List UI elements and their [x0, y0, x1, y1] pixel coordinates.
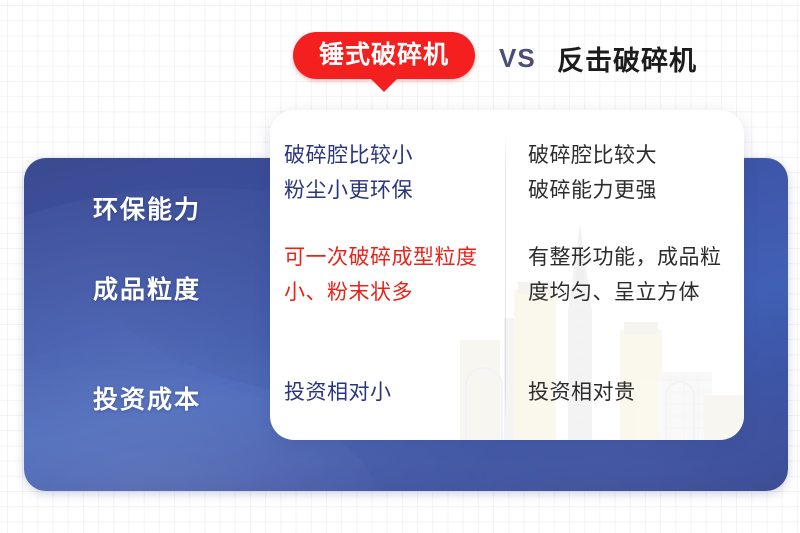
comparison-card: 破碎腔比较小 粉尘小更环保 可一次破碎成型粒度小、粉末状多 投资相对小 破碎腔比… [270, 110, 744, 440]
sidebar-category-list: 环保能力 成品粒度 投资成本 [24, 158, 270, 491]
left-machine-badge: 锤式破碎机 [293, 32, 475, 79]
cell-right-environmental: 破碎腔比较大 破碎能力更强 [528, 138, 733, 208]
cell-right-particle-size: 有整形功能，成品粒度均匀、呈立方体 [528, 240, 733, 310]
column-divider [505, 132, 506, 422]
sidebar-item-environmental: 环保能力 [24, 190, 270, 226]
left-machine-badge-label: 锤式破碎机 [293, 32, 475, 79]
cell-left-particle-size: 可一次破碎成型粒度小、粉末状多 [284, 240, 489, 310]
sidebar-item-particle-size: 成品粒度 [24, 270, 270, 306]
cell-left-environmental: 破碎腔比较小 粉尘小更环保 [284, 138, 489, 208]
sidebar-item-investment-cost: 投资成本 [24, 380, 270, 416]
cell-left-investment-cost: 投资相对小 [284, 375, 489, 410]
triangle-down-icon [369, 77, 399, 92]
cell-right-investment-cost: 投资相对贵 [528, 375, 733, 410]
right-machine-title: 反击破碎机 [557, 39, 697, 78]
header-bar: 锤式破碎机 VS 反击破碎机 [0, 0, 800, 105]
vs-separator-label: VS [499, 43, 536, 74]
comparison-column-right: 破碎腔比较大 破碎能力更强 有整形功能，成品粒度均匀、呈立方体 投资相对贵 [528, 110, 744, 440]
comparison-column-left: 破碎腔比较小 粉尘小更环保 可一次破碎成型粒度小、粉末状多 投资相对小 [284, 110, 502, 440]
